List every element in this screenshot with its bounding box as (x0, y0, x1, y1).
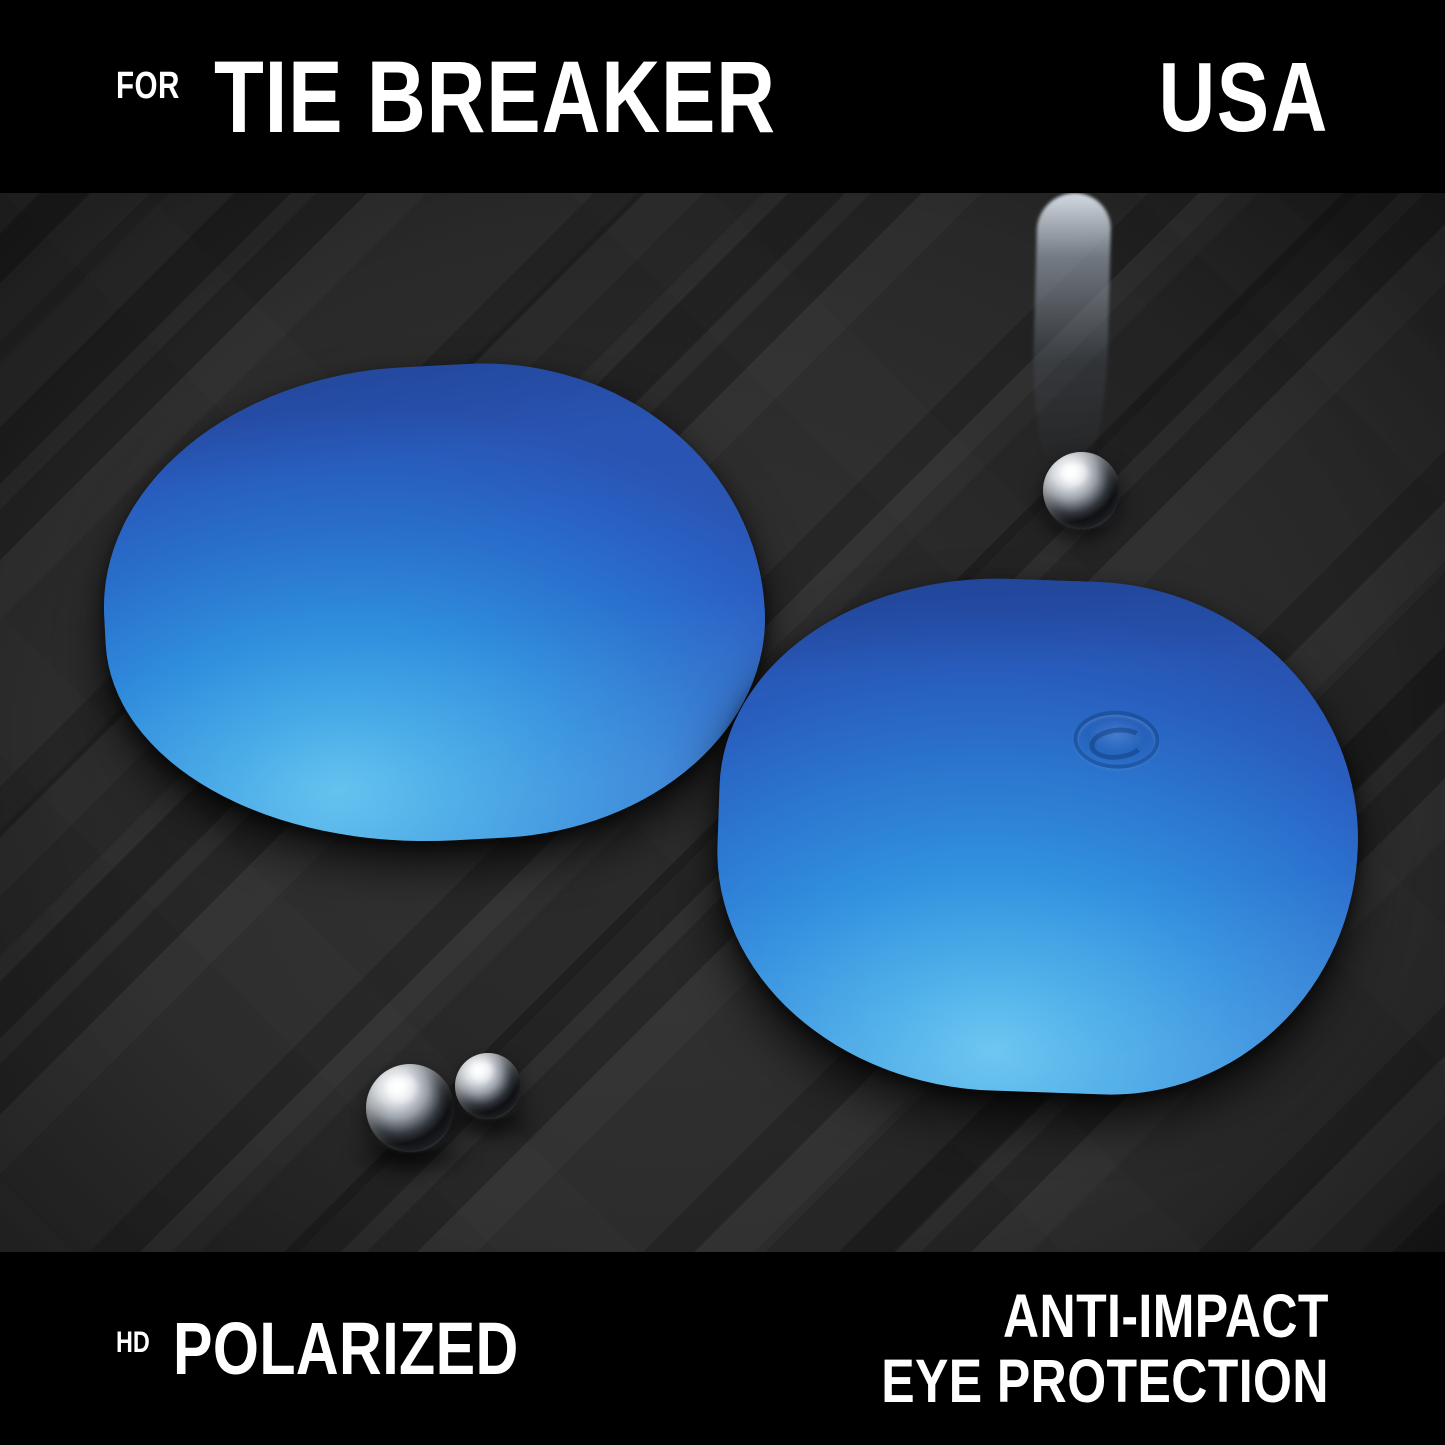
etched-oval-logo-icon (1072, 709, 1160, 770)
protection-line-two: EYE PROTECTION (881, 1349, 1329, 1414)
chrome-sphere-two (455, 1053, 521, 1119)
protection-line-one: ANTI-IMPACT (881, 1284, 1329, 1349)
polarized-label: POLARIZED (173, 1312, 519, 1386)
header-prefix-label: FOR (116, 67, 180, 105)
header-title-group: FOR TIE BREAKER (116, 46, 916, 148)
hd-label: HD (116, 1328, 150, 1358)
right-replacement-lens (709, 569, 1366, 1103)
footer-protection-group: ANTI-IMPACT EYE PROTECTION (783, 1284, 1329, 1413)
chrome-sphere-top (1043, 452, 1120, 529)
page-title: TIE BREAKER (214, 46, 776, 148)
header-bar: FOR TIE BREAKER USA (0, 0, 1445, 193)
footer-bar: HD POLARIZED ANTI-IMPACT EYE PROTECTION (0, 1252, 1445, 1445)
chrome-sphere-one (366, 1064, 454, 1152)
footer-polarized-group: HD POLARIZED (116, 1312, 605, 1386)
product-banner: FOR TIE BREAKER USA HD POLARIZED ANTI-IM… (0, 0, 1445, 1445)
origin-label: USA (1159, 48, 1329, 146)
